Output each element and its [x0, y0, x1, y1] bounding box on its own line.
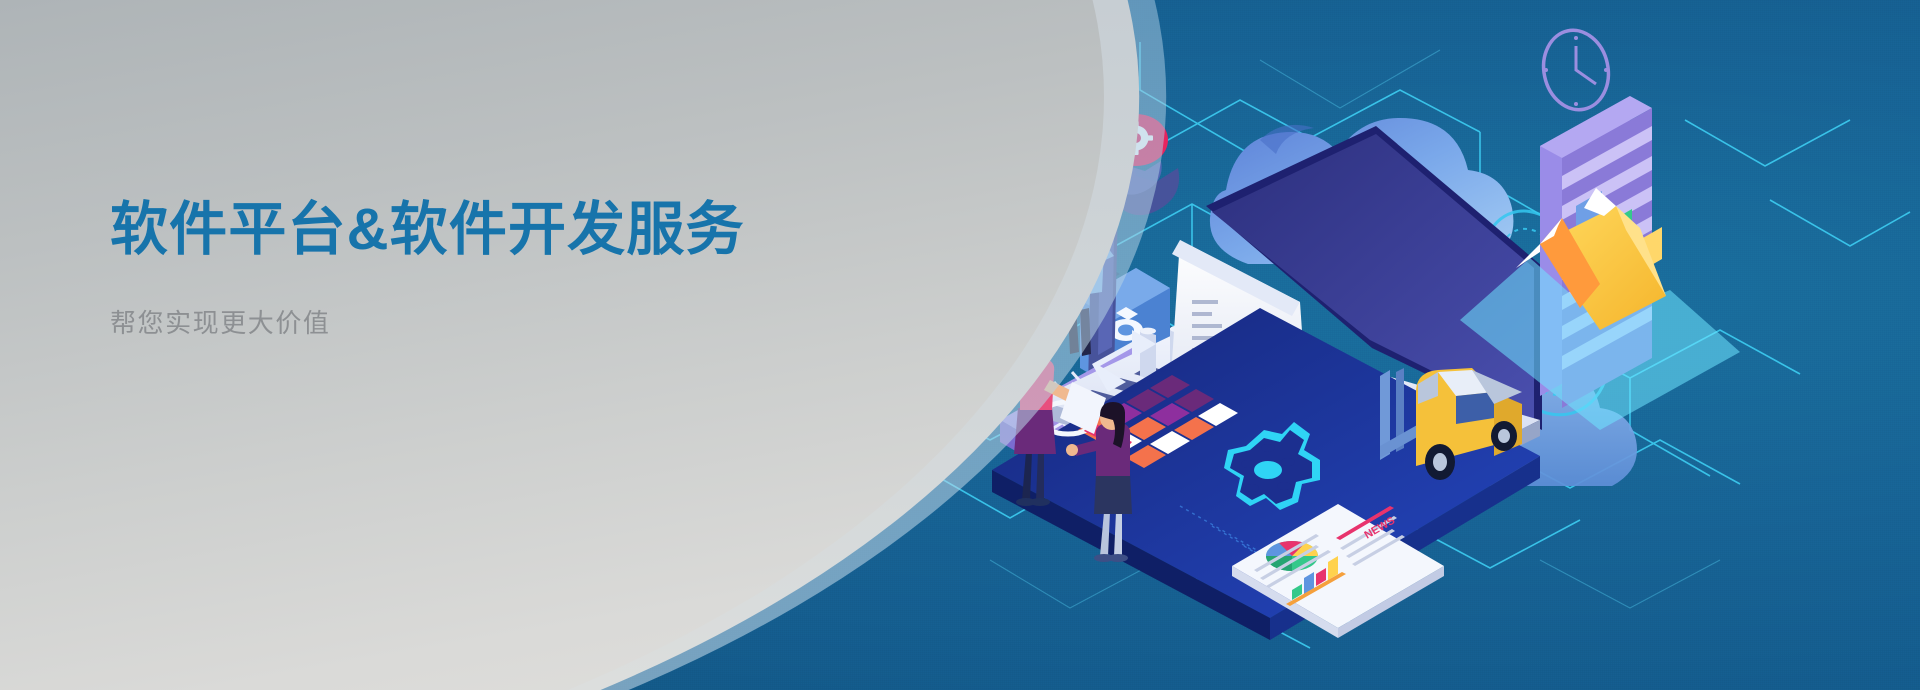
banner-copy: 软件平台&软件开发服务 帮您实现更大价值: [110, 196, 830, 340]
pie-chart-icon: [1266, 541, 1318, 571]
hero-banner: NEWS 软件平台&软件开发服务 帮您实现更大价: [0, 0, 1920, 690]
banner-title: 软件平台&软件开发服务: [110, 196, 830, 264]
banner-subtitle: 帮您实现更大价值: [110, 308, 830, 339]
clock-icon: [1536, 24, 1615, 116]
